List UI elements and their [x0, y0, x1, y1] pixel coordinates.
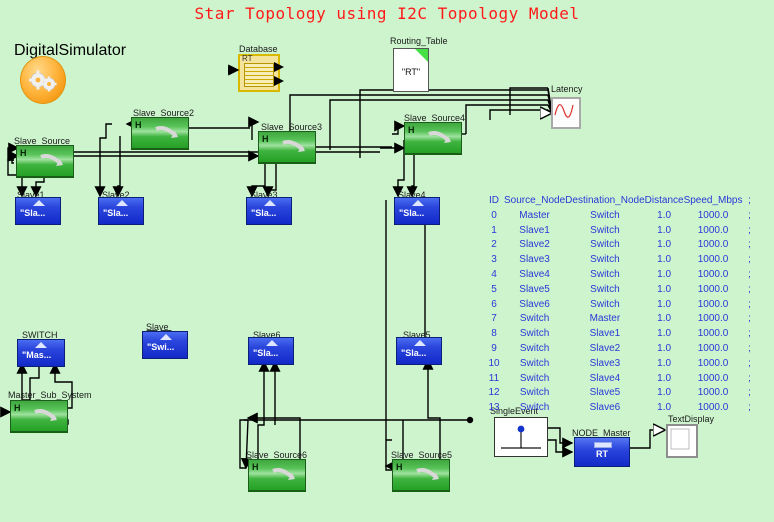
- single-event-block[interactable]: [494, 417, 548, 457]
- cell-id: 1: [484, 224, 504, 239]
- routing-table-label: Routing_Table: [390, 36, 448, 46]
- cell-id: 11: [484, 372, 504, 387]
- slave-source3-text: H: [262, 134, 269, 144]
- switch-icon: [35, 342, 47, 348]
- slave6-icon: [266, 340, 278, 346]
- cell-speed: 1000.0: [684, 283, 743, 298]
- cell-semi: ;: [743, 238, 757, 253]
- cell-semi: ;: [743, 342, 757, 357]
- slave6-block[interactable]: "Sla...: [248, 337, 294, 365]
- cell-semi: ;: [743, 224, 757, 239]
- table-row: 3Slave3Switch1.01000.0;: [484, 253, 757, 268]
- slave1-text: "Sla...: [20, 208, 58, 218]
- switch-arrow-icon: [39, 152, 65, 170]
- cell-semi: ;: [743, 253, 757, 268]
- table-body: 0MasterSwitch1.01000.0;1Slave1Switch1.01…: [484, 209, 757, 416]
- cell-semi: ;: [743, 298, 757, 313]
- cell-id: 0: [484, 209, 504, 224]
- node-master-text: RT: [575, 449, 629, 459]
- node-master-icon: [594, 442, 612, 448]
- cell-source: Slave2: [504, 238, 565, 253]
- slave5-block[interactable]: "Sla...: [396, 337, 442, 365]
- cell-destination: Switch: [565, 283, 645, 298]
- slave2-block[interactable]: "Sla...: [98, 197, 144, 225]
- cell-semi: ;: [743, 372, 757, 387]
- cell-destination: Slave3: [565, 357, 645, 372]
- cell-destination: Slave5: [565, 386, 645, 401]
- slave-source5-text: H: [396, 462, 403, 472]
- slave2-text: "Sla...: [103, 208, 141, 218]
- cell-id: 9: [484, 342, 504, 357]
- cell-source: Slave4: [504, 268, 565, 283]
- slave6-text: "Sla...: [253, 348, 291, 358]
- cell-distance: 1.0: [645, 342, 684, 357]
- model-canvas[interactable]: Star Topology using I2C Topology Model: [0, 0, 774, 522]
- table-row: 8SwitchSlave11.01000.0;: [484, 327, 757, 342]
- cell-semi: ;: [743, 357, 757, 372]
- database-ports: [228, 54, 284, 90]
- table-row: 2Slave2Switch1.01000.0;: [484, 238, 757, 253]
- cell-distance: 1.0: [645, 357, 684, 372]
- cell-source: Switch: [504, 342, 565, 357]
- cell-source: Switch: [504, 327, 565, 342]
- cell-id: 12: [484, 386, 504, 401]
- cell-speed: 1000.0: [684, 238, 743, 253]
- slave-source-block[interactable]: H: [16, 145, 74, 177]
- table-row: 12SwitchSlave51.01000.0;: [484, 386, 757, 401]
- col-destination: Destination_Node: [565, 194, 645, 209]
- slave2-icon: [116, 200, 128, 206]
- cell-source: Switch: [504, 312, 565, 327]
- routing-table-listing: ID Source_Node Destination_Node Distance…: [484, 194, 757, 416]
- cell-distance: 1.0: [645, 209, 684, 224]
- switch-block[interactable]: "Mas...: [17, 339, 65, 367]
- table-row: 10SwitchSlave31.01000.0;: [484, 357, 757, 372]
- slave-source2-text: H: [135, 120, 142, 130]
- latency-block[interactable]: [551, 97, 581, 129]
- cell-source: Switch: [504, 401, 565, 416]
- table-row: 9SwitchSlave21.01000.0;: [484, 342, 757, 357]
- cell-source: Slave5: [504, 283, 565, 298]
- cell-speed: 1000.0: [684, 327, 743, 342]
- slave-source3-block[interactable]: H: [258, 131, 316, 163]
- digital-simulator-block[interactable]: [20, 56, 66, 104]
- slave4-icon: [412, 200, 424, 206]
- cell-distance: 1.0: [645, 238, 684, 253]
- cell-source: Switch: [504, 386, 565, 401]
- slave4-block[interactable]: "Sla...: [394, 197, 440, 225]
- cell-id: 4: [484, 268, 504, 283]
- routing-table-grid: ID Source_Node Destination_Node Distance…: [484, 194, 757, 416]
- table-row: 4Slave4Switch1.01000.0;: [484, 268, 757, 283]
- cell-id: 6: [484, 298, 504, 313]
- col-speed: Speed_Mbps: [684, 194, 743, 209]
- cell-semi: ;: [743, 327, 757, 342]
- slave-switch-text: "Swi...: [147, 342, 185, 352]
- slave1-block[interactable]: "Sla...: [15, 197, 61, 225]
- display-icon: [668, 426, 692, 452]
- cell-destination: Switch: [565, 253, 645, 268]
- slave5-text: "Sla...: [401, 348, 439, 358]
- slave-source-text: H: [20, 148, 27, 158]
- switch-arrow-icon: [154, 124, 180, 142]
- cell-semi: ;: [743, 312, 757, 327]
- slave5-icon: [414, 340, 426, 346]
- cell-speed: 1000.0: [684, 357, 743, 372]
- slave3-icon: [264, 200, 276, 206]
- slave-source5-block[interactable]: H: [392, 459, 450, 491]
- cell-source: Switch: [504, 357, 565, 372]
- cell-distance: 1.0: [645, 312, 684, 327]
- cell-semi: ;: [743, 283, 757, 298]
- cell-destination: Switch: [565, 298, 645, 313]
- cell-id: 13: [484, 401, 504, 416]
- cell-speed: 1000.0: [684, 209, 743, 224]
- database-label: Database: [239, 44, 278, 54]
- cell-destination: Slave1: [565, 327, 645, 342]
- master-sub-system-block[interactable]: H: [10, 400, 68, 432]
- cell-speed: 1000.0: [684, 342, 743, 357]
- cell-speed: 1000.0: [684, 372, 743, 387]
- slave-source6-block[interactable]: H: [248, 459, 306, 491]
- switch-text: "Mas...: [22, 350, 60, 360]
- switch-arrow-icon: [33, 407, 59, 425]
- cell-source: Slave6: [504, 298, 565, 313]
- cell-distance: 1.0: [645, 327, 684, 342]
- table-row: 5Slave5Switch1.01000.0;: [484, 283, 757, 298]
- cell-id: 5: [484, 283, 504, 298]
- text-display-block[interactable]: [666, 424, 698, 458]
- cell-destination: Master: [565, 312, 645, 327]
- col-semicolon: ;: [743, 194, 757, 209]
- switch-arrow-icon: [427, 129, 453, 147]
- cell-speed: 1000.0: [684, 268, 743, 283]
- cell-destination: Switch: [565, 238, 645, 253]
- cell-distance: 1.0: [645, 298, 684, 313]
- table-row: 11SwitchSlave41.01000.0;: [484, 372, 757, 387]
- cell-speed: 1000.0: [684, 401, 743, 416]
- table-row: 0MasterSwitch1.01000.0;: [484, 209, 757, 224]
- cell-source: Master: [504, 209, 565, 224]
- cell-source: Slave3: [504, 253, 565, 268]
- cell-semi: ;: [743, 386, 757, 401]
- cell-semi: ;: [743, 268, 757, 283]
- table-row: 6Slave6Switch1.01000.0;: [484, 298, 757, 313]
- table-row: 13SwitchSlave61.01000.0;: [484, 401, 757, 416]
- cell-speed: 1000.0: [684, 312, 743, 327]
- node-master-block[interactable]: RT: [574, 437, 630, 467]
- cell-destination: Switch: [565, 268, 645, 283]
- scope-icon: [553, 99, 575, 123]
- latency-label: Latency: [551, 84, 583, 94]
- cell-destination: Switch: [565, 209, 645, 224]
- cell-distance: 1.0: [645, 401, 684, 416]
- slave-switch-block[interactable]: "Swi...: [142, 331, 188, 359]
- switch-arrow-icon: [281, 138, 307, 156]
- cell-id: 8: [484, 327, 504, 342]
- cell-distance: 1.0: [645, 224, 684, 239]
- cell-source: Switch: [504, 372, 565, 387]
- impulse-icon: [495, 418, 547, 456]
- cell-destination: Slave2: [565, 342, 645, 357]
- master-sub-system-label: Master_Sub_System: [8, 390, 92, 400]
- slave-switch-icon: [160, 334, 172, 340]
- cell-semi: ;: [743, 209, 757, 224]
- col-source: Source_Node: [504, 194, 565, 209]
- slave1-icon: [33, 200, 45, 206]
- slave3-text: "Sla...: [251, 208, 289, 218]
- cell-speed: 1000.0: [684, 386, 743, 401]
- cell-distance: 1.0: [645, 283, 684, 298]
- slave-source6-text: H: [252, 462, 259, 472]
- cell-distance: 1.0: [645, 268, 684, 283]
- routing-table-block[interactable]: "RT": [393, 48, 429, 92]
- cell-id: 2: [484, 238, 504, 253]
- col-distance: Distance: [645, 194, 684, 209]
- switch-arrow-icon: [271, 466, 297, 484]
- cell-id: 10: [484, 357, 504, 372]
- document-icon: [415, 49, 428, 62]
- table-header-row: ID Source_Node Destination_Node Distance…: [484, 194, 757, 209]
- cell-semi: ;: [743, 401, 757, 416]
- slave4-text: "Sla...: [399, 208, 437, 218]
- switch-arrow-icon: [415, 466, 441, 484]
- cell-id: 3: [484, 253, 504, 268]
- col-id: ID: [484, 194, 504, 209]
- master-sub-system-text: H: [14, 403, 21, 413]
- routing-table-text: "RT": [394, 67, 428, 77]
- cell-destination: Slave4: [565, 372, 645, 387]
- slave-source4-text: H: [408, 125, 415, 135]
- slave3-block[interactable]: "Sla...: [246, 197, 292, 225]
- cell-id: 7: [484, 312, 504, 327]
- gears-icon: [21, 57, 65, 103]
- slave-source4-block[interactable]: H: [404, 122, 462, 154]
- cell-source: Slave1: [504, 224, 565, 239]
- table-row: 7SwitchMaster1.01000.0;: [484, 312, 757, 327]
- cell-distance: 1.0: [645, 253, 684, 268]
- cell-distance: 1.0: [645, 386, 684, 401]
- slave-source2-block[interactable]: H: [131, 117, 189, 149]
- table-row: 1Slave1Switch1.01000.0;: [484, 224, 757, 239]
- cell-speed: 1000.0: [684, 298, 743, 313]
- cell-destination: Switch: [565, 224, 645, 239]
- cell-speed: 1000.0: [684, 253, 743, 268]
- cell-destination: Slave6: [565, 401, 645, 416]
- cell-distance: 1.0: [645, 372, 684, 387]
- cell-speed: 1000.0: [684, 224, 743, 239]
